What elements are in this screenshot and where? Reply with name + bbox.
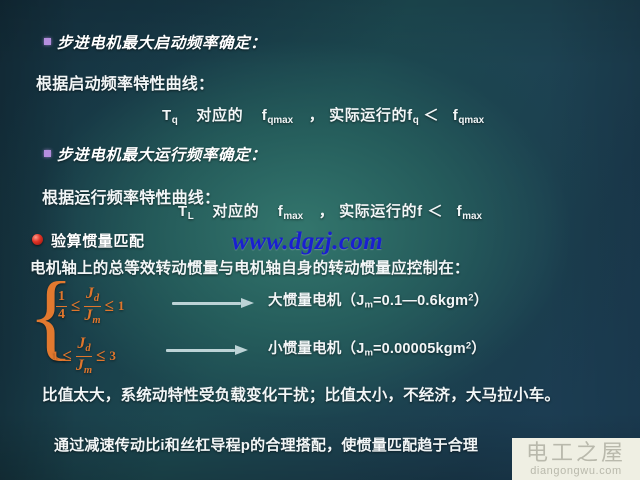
eq2-inertia-ratio: Jd Jm — [76, 336, 92, 377]
eq2-j-den: Jm — [76, 358, 92, 377]
site-logo-chinese: 电工之屋 — [526, 441, 626, 464]
s1-tail-prefix: 实际运行的f — [329, 107, 413, 124]
eq1-relation-2: ≤ — [105, 296, 114, 316]
section-2-formula: TL 对应的 fmax ， 实际运行的f ＜ fmax — [178, 200, 482, 222]
s1-comma: ， — [309, 107, 325, 124]
square-bullet-icon-2 — [44, 150, 51, 157]
ball-bullet-icon — [32, 234, 43, 245]
s2-mid-text: 对应的 — [212, 203, 259, 220]
result-1-value: =0.1—0.6kgm — [373, 293, 468, 309]
section-2-heading: 步进电机最大运行频率确定： — [57, 143, 266, 165]
inertia-equation-1: 1 4 ≤ Jd Jm ≤ 1 — [56, 286, 124, 327]
eq1-j-den: Jm — [84, 308, 100, 327]
eq1-j-num: Jd — [86, 286, 99, 305]
s2-freq-sub: max — [283, 211, 303, 222]
result-large-inertia-motor: 大惯量电机（Jm=0.1—0.6kgm2） — [268, 289, 488, 311]
s1-tail-sub: q — [413, 115, 419, 126]
section-1-formula: Tq 对应的 fqmax ， 实际运行的fq ＜ fqmax — [162, 104, 484, 126]
s1-mid-text: 对应的 — [196, 107, 243, 124]
eq1-fraction-quarter: 1 4 — [56, 290, 67, 322]
eq1-denominator: 4 — [56, 308, 67, 322]
s2-tail-freq-sub: max — [462, 211, 482, 222]
section-3-note-2: 通过减速传动比i和丝杠导程p的合理搭配，使惯量匹配趋于合理 — [54, 434, 478, 455]
eq2-relation-2: ≤ — [96, 346, 105, 366]
arrow-icon-1 — [172, 298, 254, 308]
result-1-close: ） — [474, 293, 489, 309]
slide-content-layer: 步进电机最大启动频率确定： 根据启动频率特性曲线： Tq 对应的 fqmax ，… — [0, 0, 640, 480]
eq2-relation-1: ≤ — [63, 346, 72, 366]
s1-freq-sub: qmax — [267, 115, 293, 126]
eq2-j-num: Jd — [77, 336, 90, 355]
result-2-sub: m — [364, 348, 373, 359]
s2-comma: ， — [319, 203, 335, 220]
eq2-rhs: 3 — [109, 348, 116, 364]
s2-torque-symbol: T — [178, 203, 188, 220]
arrow-icon-2 — [166, 345, 248, 355]
s1-tail-freq-sub: qmax — [458, 115, 484, 126]
s2-torque-sub: L — [188, 211, 194, 222]
result-2-label: 小惯量电机（J — [268, 341, 364, 357]
center-watermark: www.dgzj.com — [232, 228, 383, 256]
s2-tail-prefix: 实际运行的f — [339, 203, 423, 220]
section-3-line-1: 电机轴上的总等效转动惯量与电机轴自身的转动惯量应控制在： — [30, 256, 470, 278]
square-bullet-icon-1 — [44, 38, 51, 45]
eq1-rhs: 1 — [118, 298, 125, 314]
result-2-close: ） — [471, 341, 486, 357]
section-1-heading: 步进电机最大启动频率确定： — [57, 31, 266, 53]
site-logo-watermark: 电工之屋 diangongwu.com — [512, 438, 640, 480]
result-1-label: 大惯量电机（J — [268, 293, 364, 309]
s1-less-than: ＜ — [424, 107, 440, 124]
presentation-slide: 步进电机最大启动频率确定： 根据启动频率特性曲线： Tq 对应的 fqmax ，… — [0, 0, 640, 480]
s1-torque-symbol: T — [162, 107, 172, 124]
inertia-equation-2: 1 ≤ Jd Jm ≤ 3 — [52, 336, 116, 377]
eq1-inertia-ratio: Jd Jm — [84, 286, 100, 327]
s2-less-than: ＜ — [427, 203, 443, 220]
section-3-heading: 验算惯量匹配 — [51, 230, 145, 251]
result-1-sub: m — [364, 300, 373, 311]
site-logo-domain: diangongwu.com — [530, 465, 622, 477]
section-1-line-1: 根据启动频率特性曲线： — [36, 70, 214, 94]
s1-torque-sub: q — [172, 115, 178, 126]
result-small-inertia-motor: 小惯量电机（Jm=0.00005kgm2） — [268, 337, 486, 359]
result-2-value: =0.00005kgm — [373, 341, 466, 357]
section-3-note-1: 比值太大，系统动特性受负载变化干扰；比值太小，不经济，大马拉小车。 — [42, 383, 560, 405]
eq1-numerator: 1 — [56, 290, 67, 304]
eq1-relation-1: ≤ — [71, 296, 80, 316]
eq2-lhs: 1 — [52, 348, 59, 364]
